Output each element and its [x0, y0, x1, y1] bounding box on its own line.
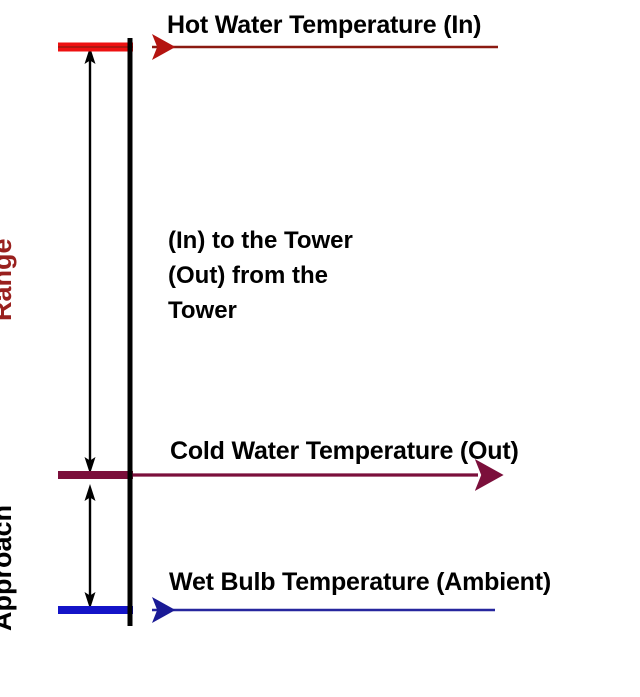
- range-label: Range: [0, 238, 18, 321]
- hot-water-temperature-label: Hot Water Temperature (In): [167, 11, 481, 39]
- tower-flow-note-line-2: (Out) from the: [168, 259, 418, 294]
- cooling-tower-range-approach-diagram: Hot Water Temperature (In) Cold Water Te…: [0, 0, 640, 697]
- approach-label: Approach: [0, 505, 18, 631]
- tower-flow-note-line-1: (In) to the Tower: [168, 224, 418, 259]
- tower-flow-note: (In) to the Tower (Out) from the Tower: [168, 224, 418, 328]
- cold-water-temperature-label: Cold Water Temperature (Out): [170, 437, 519, 465]
- range-measure-arrow: [85, 47, 96, 474]
- wet-bulb-temperature-label: Wet Bulb Temperature (Ambient): [169, 568, 551, 596]
- tower-flow-note-line-3: Tower: [168, 294, 418, 329]
- approach-measure-arrow: [85, 484, 96, 609]
